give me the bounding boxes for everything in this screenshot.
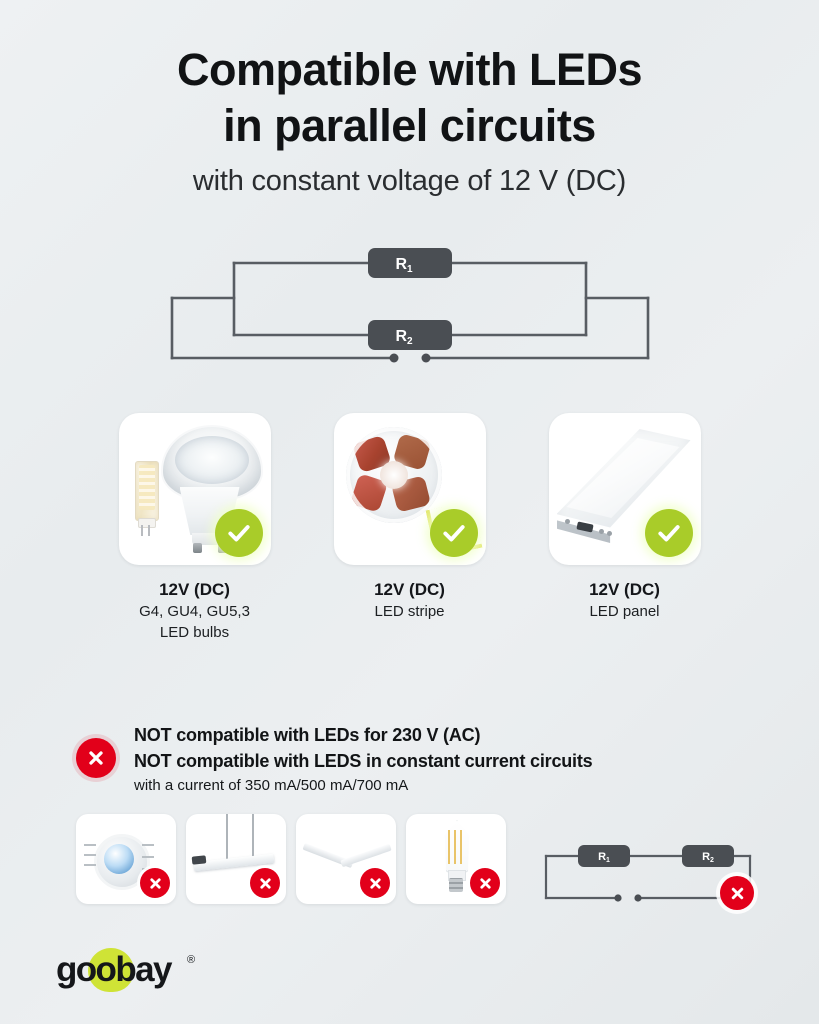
logo-wordmark: goobay	[56, 950, 206, 990]
headline-block: Compatible with LEDs in parallel circuit…	[0, 0, 819, 198]
card-product-type: LED bulbs	[119, 622, 271, 643]
check-icon	[215, 509, 263, 557]
product-caption-led-bulbs: 12V (DC) G4, GU4, GU5,3 LED bulbs	[119, 579, 271, 643]
check-icon	[430, 509, 478, 557]
g4-capsule-bulb-icon	[133, 461, 159, 535]
product-image-led-bulbs	[119, 413, 271, 565]
card-socket-types: G4, GU4, GU5,3	[119, 601, 271, 622]
check-icon	[645, 509, 693, 557]
product-card-led-stripe[interactable]: 12V (DC) LED stripe	[334, 413, 486, 643]
card-voltage: 12V (DC)	[334, 579, 486, 601]
cross-icon	[250, 868, 280, 898]
incompatible-products-row	[76, 814, 506, 904]
logo-registered-mark: ®	[187, 954, 195, 966]
series-terminal-dot-right	[634, 894, 641, 901]
card-product-type: LED panel	[549, 601, 701, 622]
cross-icon	[470, 868, 500, 898]
resistor-r2: R2	[368, 320, 452, 350]
incompatibility-warning: NOT compatible with LEDs for 230 V (AC) …	[76, 722, 776, 798]
warning-line-1: NOT compatible with LEDs for 230 V (AC)	[134, 722, 592, 748]
cross-icon	[720, 876, 754, 910]
infographic-page: Compatible with LEDs in parallel circuit…	[0, 0, 819, 1024]
brand-logo: goobay ®	[56, 950, 206, 990]
goobay-logo-mark: goobay ®	[56, 950, 206, 990]
page-title: Compatible with LEDs in parallel circuit…	[0, 42, 819, 154]
cross-icon	[76, 738, 116, 778]
thumb-filament-candle-bulb[interactable]	[406, 814, 506, 904]
series-terminal-dot-left	[614, 894, 621, 901]
cross-icon	[140, 868, 170, 898]
resistor-r1: R1	[368, 248, 452, 278]
card-voltage: 12V (DC)	[119, 579, 271, 601]
product-image-led-panel	[549, 413, 701, 565]
series-resistor-r1: R1	[578, 845, 630, 867]
product-card-led-bulbs[interactable]: 12V (DC) G4, GU4, GU5,3 LED bulbs	[119, 413, 271, 643]
series-resistor-r2: R2	[682, 845, 734, 867]
card-product-type: LED stripe	[334, 601, 486, 622]
terminal-dot-left	[389, 354, 398, 363]
card-voltage: 12V (DC)	[549, 579, 701, 601]
led-strip-reel-icon	[346, 427, 442, 523]
title-line-1: Compatible with LEDs	[177, 44, 642, 95]
compatible-products-row: 12V (DC) G4, GU4, GU5,3 LED bulbs	[0, 413, 819, 643]
warning-text-block: NOT compatible with LEDs for 230 V (AC) …	[134, 722, 592, 798]
cross-icon	[360, 868, 390, 898]
product-card-led-panel[interactable]: 12V (DC) LED panel	[549, 413, 701, 643]
page-subtitle: with constant voltage of 12 V (DC)	[0, 164, 819, 198]
product-caption-led-panel: 12V (DC) LED panel	[549, 579, 701, 622]
thumb-recessed-spotlight[interactable]	[76, 814, 176, 904]
terminal-dot-right	[421, 354, 430, 363]
product-image-led-stripe	[334, 413, 486, 565]
series-circuit-diagram: R1 R2	[534, 828, 784, 916]
warning-line-3: with a current of 350 mA/500 mA/700 mA	[134, 774, 592, 798]
thumb-led-panel-frame[interactable]	[296, 814, 396, 904]
product-caption-led-stripe: 12V (DC) LED stripe	[334, 579, 486, 622]
title-line-2: in parallel circuits	[223, 100, 596, 151]
thumb-pendant-lamp[interactable]	[186, 814, 286, 904]
warning-line-2: NOT compatible with LEDS in constant cur…	[134, 748, 592, 774]
parallel-circuit-diagram: R1 R2	[0, 236, 819, 376]
